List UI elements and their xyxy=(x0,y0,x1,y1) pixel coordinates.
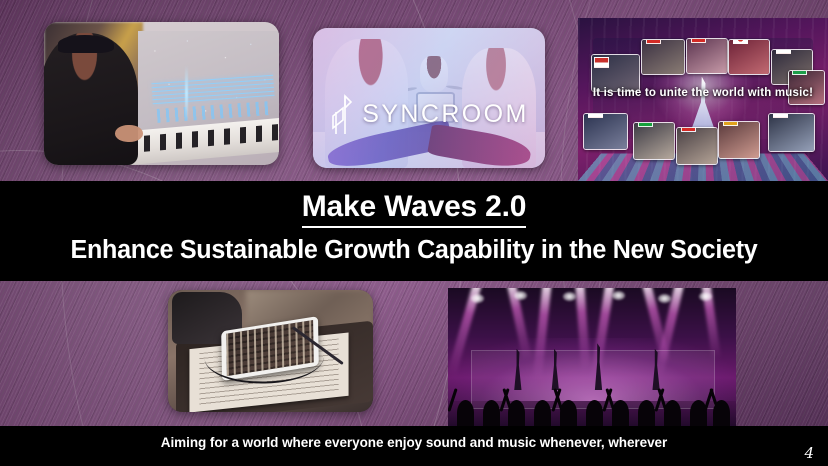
syncroom-wordmark: SYNCROOM xyxy=(362,100,528,129)
piano-player-cap xyxy=(58,35,114,54)
stage-lamp-icon xyxy=(471,294,484,303)
flag-icon xyxy=(638,122,653,127)
stage-lamp-icon xyxy=(612,291,625,300)
caption-text: Aiming for a world where everyone enjoy … xyxy=(0,435,828,450)
photo-piano-projection xyxy=(44,22,279,165)
participant-tile xyxy=(633,122,675,160)
photo-global-virtual-concert: It is time to unite the world with music… xyxy=(578,18,828,181)
stage-lamp-icon xyxy=(514,291,527,300)
participant-tile xyxy=(676,127,718,165)
flag-icon xyxy=(792,70,807,75)
virtual-concert-headline: It is time to unite the world with music… xyxy=(583,87,823,99)
flag-icon xyxy=(776,49,791,54)
piano-player-silhouette xyxy=(44,33,138,165)
flag-icon xyxy=(594,57,609,68)
piano-light-burst xyxy=(185,65,188,122)
photo-syncroom-band: SYNCROOM xyxy=(313,28,545,168)
caption-bar: Aiming for a world where everyone enjoy … xyxy=(0,426,828,466)
page-subtitle: Enhance Sustainable Growth Capability in… xyxy=(6,236,822,265)
participant-tile xyxy=(768,113,815,152)
photo-tablet-sheet-music xyxy=(168,290,373,412)
stage-lamp-icon xyxy=(699,292,712,301)
participant-tile xyxy=(641,39,686,75)
flag-icon xyxy=(681,127,696,132)
participant-tile xyxy=(728,39,770,75)
title-band: Make Waves 2.0 Enhance Sustainable Growt… xyxy=(0,181,828,281)
audience-crowd xyxy=(448,379,736,426)
flag-icon xyxy=(646,39,661,44)
page-title-text: Make Waves 2.0 xyxy=(302,190,527,228)
page-number: 4 xyxy=(804,444,814,462)
flag-icon xyxy=(723,121,738,126)
participant-tile xyxy=(583,113,628,151)
flag-icon xyxy=(773,113,788,118)
flag-icon xyxy=(588,113,603,118)
stage-lamp-icon xyxy=(658,294,671,303)
flag-icon xyxy=(691,38,706,43)
slide-canvas: SYNCROOM xyxy=(0,0,828,466)
photo-live-concert xyxy=(448,288,736,426)
syncroom-logo-icon xyxy=(329,94,355,136)
participant-tile xyxy=(686,38,728,74)
participant-tile xyxy=(718,121,760,159)
syncroom-logo: SYNCROOM xyxy=(313,92,545,137)
flag-icon xyxy=(733,39,748,44)
piano-player-hand xyxy=(115,125,143,142)
page-title: Make Waves 2.0 xyxy=(0,190,828,224)
